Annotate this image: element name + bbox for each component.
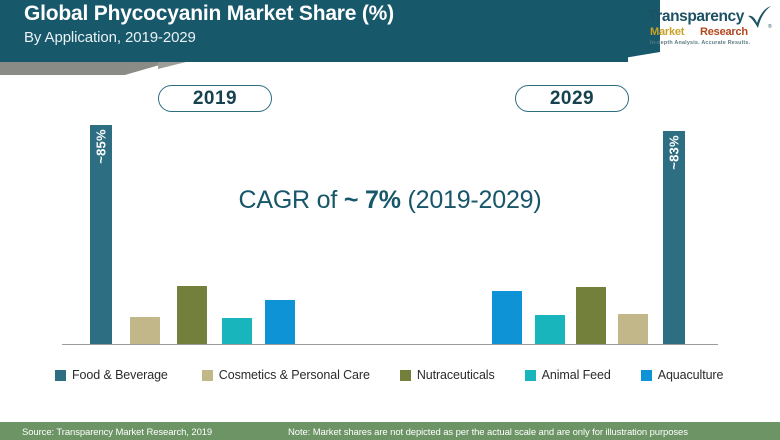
bar-g2029-3	[618, 314, 648, 345]
bar-g2019-2	[177, 286, 207, 345]
bar-g2019-4	[265, 300, 295, 345]
bars-layer: ~85%~83%	[0, 120, 780, 345]
bar-g2019-1	[130, 317, 160, 345]
bar-g2019-3	[222, 318, 252, 345]
legend-item-2: Nutraceuticals	[400, 368, 495, 382]
legend-swatch	[641, 370, 652, 381]
chart-legend: Food & BeverageCosmetics & Personal Care…	[55, 366, 735, 384]
bar-g2029-2	[576, 287, 606, 345]
bar-g2029-1	[535, 315, 565, 345]
legend-swatch	[202, 370, 213, 381]
chart-baseline-axis	[62, 344, 718, 345]
cagr-prefix: CAGR of	[238, 186, 343, 214]
legend-item-3: Animal Feed	[525, 368, 611, 382]
legend-swatch	[525, 370, 536, 381]
legend-label: Food & Beverage	[72, 368, 168, 382]
bar-value-label: ~85%	[94, 129, 109, 163]
cagr-callout: CAGR of ~ 7% (2019-2029)	[0, 186, 780, 215]
bar-g2019-0: ~85%	[90, 125, 112, 345]
cagr-suffix: (2019-2029)	[401, 186, 542, 214]
footer-note: Note: Market shares are not depicted as …	[288, 427, 688, 438]
legend-swatch	[400, 370, 411, 381]
footer-source: Source: Transparency Market Research, 20…	[22, 427, 212, 438]
cagr-tilde: ~	[344, 186, 365, 214]
bar-g2029-4: ~83%	[663, 131, 685, 345]
bar-value-label: ~83%	[667, 135, 682, 169]
bar-g2029-0	[492, 291, 522, 345]
legend-label: Cosmetics & Personal Care	[219, 368, 370, 382]
legend-item-1: Cosmetics & Personal Care	[202, 368, 370, 382]
cagr-value: 7%	[365, 186, 401, 214]
legend-label: Animal Feed	[542, 368, 611, 382]
legend-label: Aquaculture	[658, 368, 724, 382]
legend-item-4: Aquaculture	[641, 368, 724, 382]
legend-label: Nutraceuticals	[417, 368, 495, 382]
legend-item-0: Food & Beverage	[55, 368, 168, 382]
legend-swatch	[55, 370, 66, 381]
infographic-canvas: Global Phycocyanin Market Share (%) By A…	[0, 0, 780, 440]
